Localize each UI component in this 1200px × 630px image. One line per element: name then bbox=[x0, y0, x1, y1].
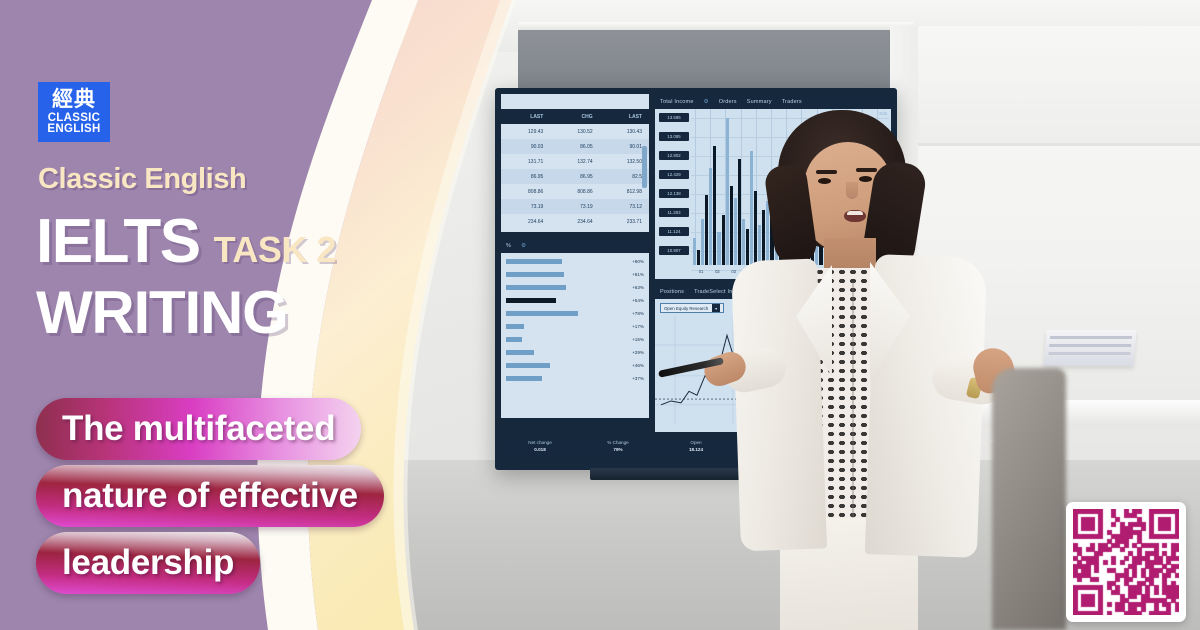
left-text-panel: 經典 CLASSIC ENGLISH Classic English IELTS… bbox=[0, 0, 470, 630]
poster-canvas: LASTCHGLAST129.43130.52130.4390.0386.059… bbox=[0, 0, 1200, 630]
percent-bar bbox=[506, 285, 566, 290]
table-cell: 130.52 bbox=[550, 129, 599, 135]
table-cell: 812.98 bbox=[600, 189, 649, 195]
gear-icon[interactable]: ⚙ bbox=[704, 99, 709, 105]
chart-bar bbox=[697, 250, 700, 265]
y-tick-label: 12.429 bbox=[659, 170, 689, 179]
percent-value: +15% bbox=[632, 337, 644, 342]
brand-logo[interactable]: 經典 CLASSIC ENGLISH bbox=[38, 82, 110, 142]
column-header: CHG bbox=[550, 114, 599, 120]
list-item: +78% bbox=[501, 307, 649, 320]
y-tick-label: 12.138 bbox=[659, 189, 689, 198]
table-row: 86.9586.9582.5 bbox=[501, 169, 649, 184]
percent-panel-header: % ⚙ bbox=[501, 238, 649, 253]
table-row: 90.0386.0590.01 bbox=[501, 139, 649, 154]
y-tick-label: 13.085 bbox=[659, 132, 689, 141]
presenter-figure bbox=[718, 110, 1008, 630]
table-cell: 86.95 bbox=[550, 174, 599, 180]
chart-bar bbox=[709, 168, 712, 265]
y-tick-label: 10.907 bbox=[659, 246, 689, 255]
table-cell: 808.86 bbox=[550, 189, 599, 195]
table-cell: 73.12 bbox=[600, 204, 649, 210]
y-tick-label: 12.802 bbox=[659, 151, 689, 160]
percent-panel: % ⚙ +60%+61%+63%+54%+78%+17%+15%+29%+46%… bbox=[501, 238, 649, 418]
quotes-table: LASTCHGLAST129.43130.52130.4390.0386.059… bbox=[501, 109, 649, 229]
table-cell: 90.03 bbox=[501, 144, 550, 150]
column-header: LAST bbox=[600, 114, 649, 120]
equity-research-dropdown[interactable]: Open Equity Research ▾ bbox=[660, 303, 724, 313]
table-row: 73.1973.1973.12 bbox=[501, 199, 649, 214]
y-tick-label: 13.585 bbox=[659, 113, 689, 122]
qr-code[interactable] bbox=[1066, 502, 1186, 622]
list-item: +17% bbox=[501, 320, 649, 333]
logo-line-english: ENGLISH bbox=[47, 124, 100, 136]
table-header-row: LASTCHGLAST bbox=[501, 109, 649, 124]
y-tick-label: 11.283 bbox=[659, 208, 689, 217]
table-cell: 131.71 bbox=[501, 159, 550, 165]
table-row: 129.43130.52130.43 bbox=[501, 124, 649, 139]
list-item: +61% bbox=[501, 268, 649, 281]
table-cell: 73.19 bbox=[501, 204, 550, 210]
brand-kicker: Classic English bbox=[38, 163, 246, 196]
table-cell: 132.74 bbox=[550, 159, 599, 165]
percent-value: +37% bbox=[632, 376, 644, 381]
percent-value: +29% bbox=[632, 350, 644, 355]
tab-traders[interactable]: Traders bbox=[782, 99, 802, 105]
quotes-panel: LASTCHGLAST129.43130.52130.4390.0386.059… bbox=[501, 94, 649, 232]
blouse-seam bbox=[852, 282, 854, 518]
table-cell: 86.05 bbox=[550, 144, 599, 150]
tab-total-income[interactable]: Total Income bbox=[660, 99, 694, 105]
percent-bar bbox=[506, 311, 578, 316]
chart-bar bbox=[701, 219, 704, 265]
stat-value: 79% bbox=[579, 447, 657, 454]
qr-code-image bbox=[1073, 509, 1179, 615]
stat-item: Net change0.018 bbox=[501, 440, 579, 454]
percent-value: +54% bbox=[632, 298, 644, 303]
stat-item: % Change79% bbox=[579, 440, 657, 454]
table-cell: 234.64 bbox=[501, 219, 550, 225]
table-cell: 130.43 bbox=[600, 129, 649, 135]
presenter-brow-left bbox=[816, 170, 837, 174]
percent-value: +78% bbox=[632, 311, 644, 316]
table-row: 808.86808.86812.98 bbox=[501, 184, 649, 199]
title-task: TASK 2 bbox=[214, 229, 336, 271]
gear-icon[interactable]: ⚙ bbox=[521, 243, 526, 249]
chart-bar bbox=[693, 238, 696, 265]
presenter-eye-left bbox=[818, 178, 831, 184]
table-cell: 808.86 bbox=[501, 189, 550, 195]
percent-bar bbox=[506, 337, 522, 342]
blurred-person-left bbox=[992, 368, 1066, 630]
tab-summary[interactable]: Summary bbox=[747, 99, 772, 105]
title-writing: WRITING bbox=[36, 278, 288, 347]
percent-bar bbox=[506, 363, 550, 368]
percent-bar bbox=[506, 272, 564, 277]
logo-chinese-characters: 經典 bbox=[52, 89, 96, 110]
list-item: +37% bbox=[501, 372, 649, 385]
percent-bar bbox=[506, 376, 542, 381]
income-chart-tabs: Total Income ⚙ Orders Summary Traders bbox=[655, 94, 891, 109]
stat-value: 0.018 bbox=[501, 447, 579, 454]
percent-bar bbox=[506, 298, 556, 303]
percent-value: +63% bbox=[632, 285, 644, 290]
presenter-nose bbox=[846, 182, 858, 199]
quotes-scrollbar[interactable] bbox=[642, 146, 647, 188]
list-item: +54% bbox=[501, 294, 649, 307]
percent-bar bbox=[506, 350, 534, 355]
x-tick-label: 01 bbox=[699, 269, 704, 274]
presenter-eye-right bbox=[859, 176, 872, 182]
percent-value: +17% bbox=[632, 324, 644, 329]
stat-label: Net change bbox=[528, 440, 552, 445]
list-item: +46% bbox=[501, 359, 649, 372]
chart-bar bbox=[713, 146, 716, 265]
table-cell: 73.19 bbox=[550, 204, 599, 210]
stat-label: % Change bbox=[607, 440, 628, 445]
stat-label: Open bbox=[690, 440, 701, 445]
y-tick-label: 11.124 bbox=[659, 227, 689, 236]
headline-pill-3: leadership bbox=[36, 532, 260, 594]
presenter-mouth bbox=[844, 210, 866, 222]
headline-pill-2: nature of effective bbox=[36, 465, 384, 527]
table-row: 131.71132.74132.50 bbox=[501, 154, 649, 169]
table-cell: 234.64 bbox=[550, 219, 599, 225]
table-cell: 86.95 bbox=[501, 174, 550, 180]
list-item: +29% bbox=[501, 346, 649, 359]
title-ielts: IELTS bbox=[36, 206, 200, 277]
list-item: +15% bbox=[501, 333, 649, 346]
headline-pill-1: The multifaceted bbox=[36, 398, 361, 460]
presenter-brow-right bbox=[856, 168, 877, 172]
chart-bar bbox=[705, 195, 708, 265]
dropdown-value: Open Equity Research bbox=[664, 306, 708, 311]
paper-stack bbox=[1043, 330, 1136, 366]
tab-orders[interactable]: Orders bbox=[719, 99, 737, 105]
table-cell: 129.43 bbox=[501, 129, 550, 135]
list-item: +60% bbox=[501, 255, 649, 268]
tab-positions[interactable]: Positions bbox=[660, 289, 684, 295]
table-cell: 233.71 bbox=[600, 219, 649, 225]
list-item: +63% bbox=[501, 281, 649, 294]
percent-bar bbox=[506, 259, 562, 264]
percent-rows: +60%+61%+63%+54%+78%+17%+15%+29%+46%+37% bbox=[501, 255, 649, 385]
percent-header-label: % bbox=[506, 243, 511, 249]
percent-value: +60% bbox=[632, 259, 644, 264]
column-header: LAST bbox=[501, 114, 550, 120]
percent-value: +46% bbox=[632, 363, 644, 368]
percent-bar bbox=[506, 324, 524, 329]
table-row: 234.64234.64233.71 bbox=[501, 214, 649, 229]
percent-value: +61% bbox=[632, 272, 644, 277]
page-title: IELTS TASK 2 bbox=[36, 206, 336, 277]
